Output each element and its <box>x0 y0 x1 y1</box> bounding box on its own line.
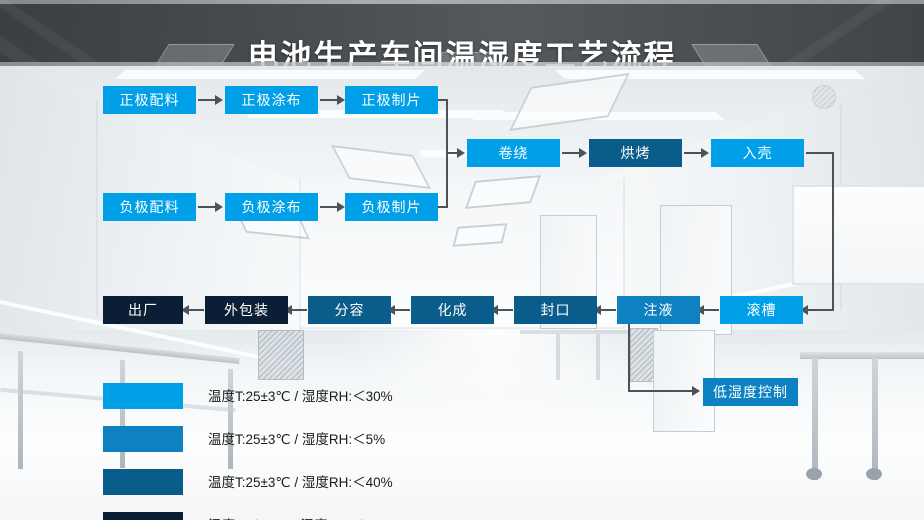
legend-row: 温度T:25±3℃ / 湿度RH:＜5% <box>103 426 523 458</box>
title-bar: 电池生产车间温湿度工艺流程 <box>0 0 924 66</box>
flow-node-zhengji-tubu[interactable]: 正极涂布 <box>225 86 318 114</box>
legend-label: 温度T:25±3℃ / 湿度RH:＜40% <box>208 471 393 491</box>
slide-canvas: 电池生产车间温湿度工艺流程 <box>0 0 924 520</box>
flow-node-ruke[interactable]: 入壳 <box>711 139 804 167</box>
flow-node-zhengji-peiliao[interactable]: 正极配料 <box>103 86 196 114</box>
flow-node-fuji-zhipian[interactable]: 负极制片 <box>345 193 438 221</box>
legend-label: 温度T:＜28℃ / 湿度RH:＜50% <box>208 514 391 520</box>
flow-node-waibaozhuang[interactable]: 外包装 <box>205 296 288 324</box>
legend-color-swatch <box>103 469 183 495</box>
legend-row: 温度T:25±3℃ / 湿度RH:＜30% <box>103 383 523 415</box>
legend-color-swatch <box>103 426 183 452</box>
flow-node-fengkou[interactable]: 封口 <box>514 296 597 324</box>
legend: 温度T:25±3℃ / 湿度RH:＜30%温度T:25±3℃ / 湿度RH:＜5… <box>103 383 523 520</box>
flow-node-fenrong[interactable]: 分容 <box>308 296 391 324</box>
legend-row: 温度T:＜28℃ / 湿度RH:＜50% <box>103 512 523 520</box>
flow-node-chuchang[interactable]: 出厂 <box>103 296 183 324</box>
flow-node-zhuye[interactable]: 注液 <box>617 296 700 324</box>
legend-row: 温度T:25±3℃ / 湿度RH:＜40% <box>103 469 523 501</box>
legend-label: 温度T:25±3℃ / 湿度RH:＜5% <box>208 428 385 448</box>
flow-node-juanrao[interactable]: 卷绕 <box>467 139 560 167</box>
flow-node-huacheng[interactable]: 化成 <box>411 296 494 324</box>
flow-node-zhengji-zhipian[interactable]: 正极制片 <box>345 86 438 114</box>
flow-node-fuji-peiliao[interactable]: 负极配料 <box>103 193 196 221</box>
page-title: 电池生产车间温湿度工艺流程 <box>0 21 924 66</box>
legend-color-swatch <box>103 512 183 520</box>
legend-color-swatch <box>103 383 183 409</box>
flow-node-hongkao[interactable]: 烘烤 <box>589 139 682 167</box>
flow-node-dishidu-kongzhi[interactable]: 低湿度控制 <box>703 378 798 406</box>
flow-node-guncao[interactable]: 滚槽 <box>720 296 803 324</box>
flow-node-fuji-tubu[interactable]: 负极涂布 <box>225 193 318 221</box>
legend-label: 温度T:25±3℃ / 湿度RH:＜30% <box>208 385 393 405</box>
